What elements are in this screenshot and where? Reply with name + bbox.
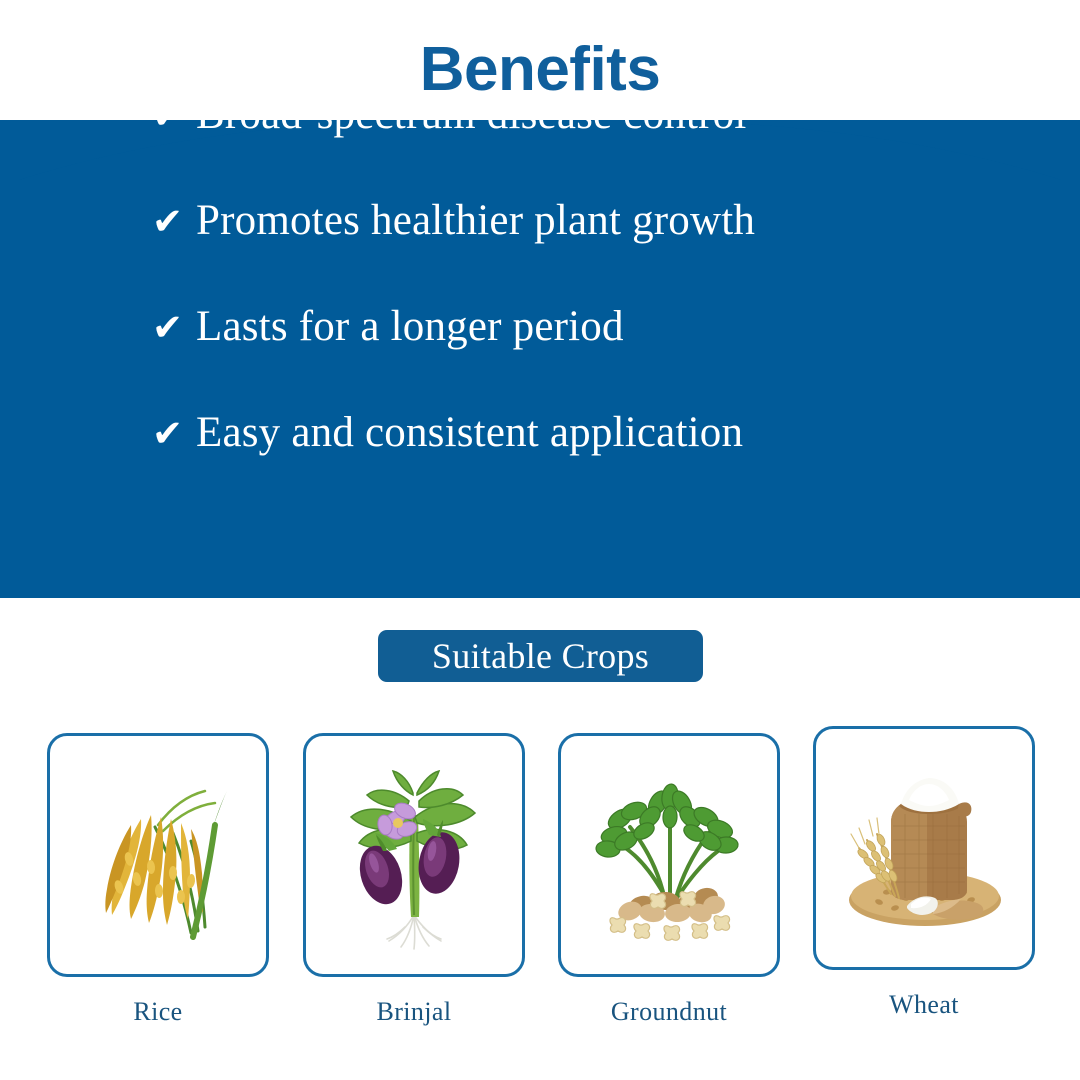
suitable-crops-badge: Suitable Crops [378, 630, 703, 682]
crop-card-wheat[interactable] [813, 726, 1035, 970]
check-icon: ✔ [152, 415, 196, 452]
benefit-label: Easy and consistent application [196, 409, 743, 456]
crop-cell-groundnut: Groundnut [558, 733, 780, 1025]
groundnut-plant-icon [574, 755, 764, 955]
brinjal-plant-icon [319, 755, 509, 955]
rice-plant-icon [63, 755, 253, 955]
benefit-item: ✔ Promotes healthier plant growth [152, 168, 1080, 274]
crop-cell-brinjal: Brinjal [303, 733, 525, 1025]
check-icon: ✔ [152, 309, 196, 346]
page-title: Benefits [0, 34, 1080, 105]
crop-card-brinjal[interactable] [303, 733, 525, 977]
crop-label-brinjal: Brinjal [303, 999, 525, 1025]
crop-card-rice[interactable] [47, 733, 269, 977]
suitable-crops-row: Rice [0, 718, 1080, 1048]
benefit-label: Promotes healthier plant growth [196, 197, 755, 244]
crop-card-groundnut[interactable] [558, 733, 780, 977]
crop-label-rice: Rice [47, 999, 269, 1025]
benefit-item: ✔ Lasts for a longer period [152, 274, 1080, 380]
benefit-item: ✔ Easy and consistent application [152, 380, 1080, 486]
crop-cell-wheat: Wheat [813, 726, 1035, 1018]
crop-label-groundnut: Groundnut [558, 999, 780, 1025]
crop-cell-rice: Rice [47, 733, 269, 1025]
benefits-infographic: Benefits ✔ Broad-spectrum disease contro… [0, 0, 1080, 1080]
suitable-crops-badge-label: Suitable Crops [432, 638, 649, 674]
crop-label-wheat: Wheat [813, 992, 1035, 1018]
wheat-sack-icon [829, 748, 1019, 948]
check-icon: ✔ [152, 203, 196, 240]
benefit-label: Lasts for a longer period [196, 303, 624, 350]
